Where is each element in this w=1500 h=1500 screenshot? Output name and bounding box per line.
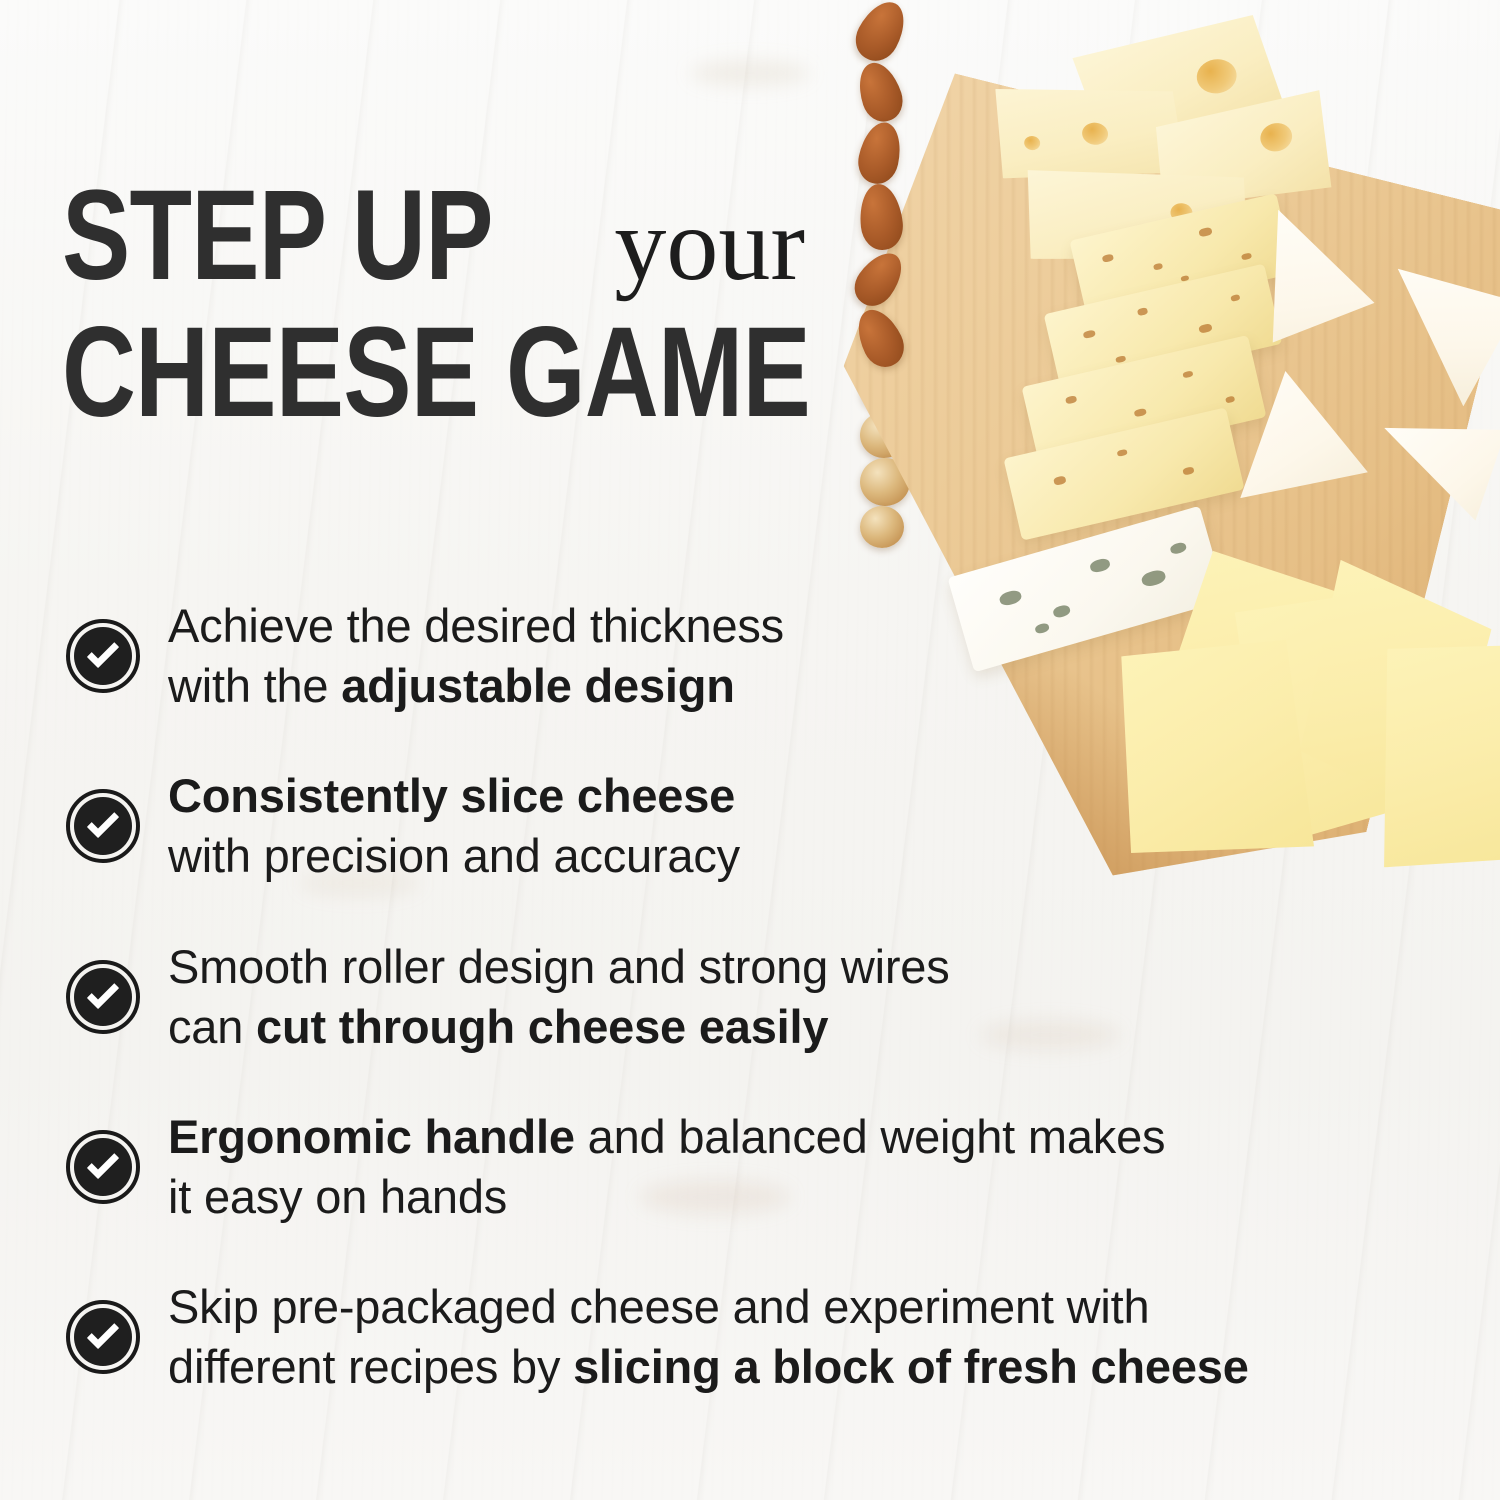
list-item: Ergonomic handle and balanced weight mak… [66, 1107, 1466, 1227]
headline-step-up: STEP UP [62, 178, 493, 293]
check-circle-icon [66, 619, 140, 693]
bullet-2-line-2: with precision and accuracy [168, 829, 740, 882]
bullet-5-line-2-plain: different recipes by [168, 1340, 573, 1393]
list-item: Consistently slice cheese with precision… [66, 766, 1466, 886]
list-item-text: Smooth roller design and strong wires ca… [168, 937, 950, 1057]
bullet-1-line-2-plain: with the [168, 659, 341, 712]
list-item: Skip pre-packaged cheese and experiment … [66, 1277, 1466, 1397]
check-circle-icon [66, 1300, 140, 1374]
bullet-1-line-2-bold: adjustable design [341, 659, 735, 712]
bullet-5-line-2-bold: slicing a block of fresh cheese [573, 1340, 1249, 1393]
list-item: Achieve the desired thickness with the a… [66, 596, 1466, 716]
bullet-4-line-1-bold: Ergonomic handle [168, 1110, 575, 1163]
bullet-5-line-1: Skip pre-packaged cheese and experiment … [168, 1280, 1149, 1333]
check-circle-icon [66, 789, 140, 863]
headline-cheese-game: CHEESE GAME [62, 315, 810, 430]
bullet-4-line-1-plain: and balanced weight makes [575, 1110, 1166, 1163]
check-circle-icon [66, 960, 140, 1034]
list-item-text: Consistently slice cheese with precision… [168, 766, 740, 886]
bullet-2-line-1-bold: Consistently slice cheese [168, 769, 735, 822]
product-infographic: ZULAY KITCHEN STEP UPyour CHEESE GAME Ac… [0, 0, 1500, 1500]
headline: STEP UPyour CHEESE GAME [62, 178, 882, 430]
list-item-text: Ergonomic handle and balanced weight mak… [168, 1107, 1165, 1227]
list-item-text: Skip pre-packaged cheese and experiment … [168, 1277, 1249, 1397]
list-item: Smooth roller design and strong wires ca… [66, 937, 1466, 1057]
headline-your: your [614, 198, 805, 292]
list-item-text: Achieve the desired thickness with the a… [168, 596, 784, 716]
bullet-3-line-2-plain: can [168, 1000, 256, 1053]
headline-line-2: CHEESE GAME [62, 315, 882, 430]
bullet-3-line-1: Smooth roller design and strong wires [168, 940, 950, 993]
bullet-4-line-2: it easy on hands [168, 1170, 507, 1223]
bullet-1-line-1: Achieve the desired thickness [168, 599, 784, 652]
bullet-3-line-2-bold: cut through cheese easily [256, 1000, 828, 1053]
check-circle-icon [66, 1130, 140, 1204]
headline-line-1: STEP UPyour [62, 178, 882, 293]
feature-list: Achieve the desired thickness with the a… [66, 596, 1466, 1398]
